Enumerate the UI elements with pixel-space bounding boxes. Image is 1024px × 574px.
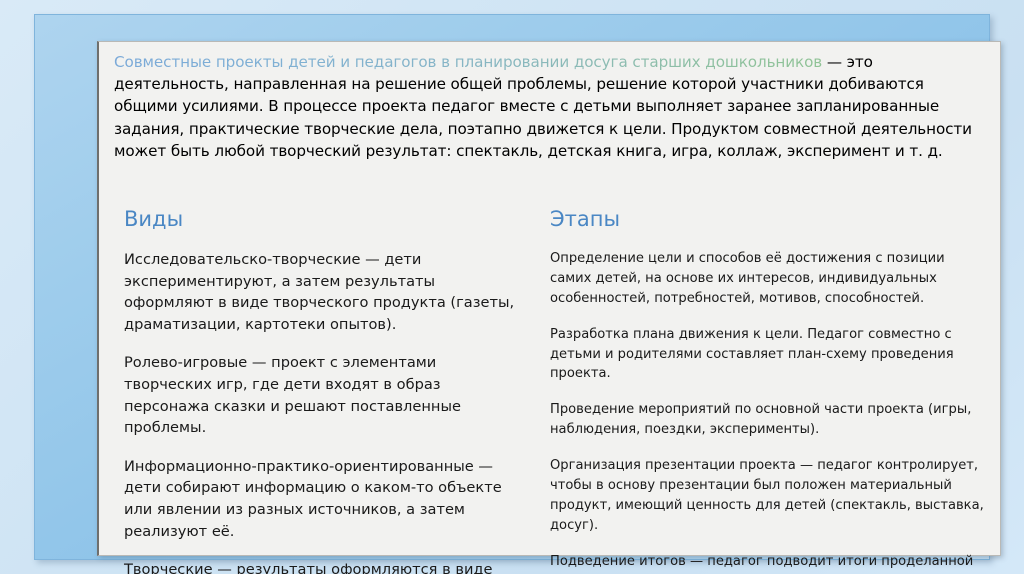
etapy-paragraph-1: Определение цели и способов её достижени…: [550, 249, 984, 309]
column-heading-etapy: Этапы: [550, 208, 984, 231]
vidy-paragraph-1: Исследовательско-творческие — дети экспе…: [124, 249, 528, 335]
slide-frame-panel: Совместные проекты детей и педагогов в п…: [34, 14, 990, 560]
vidy-paragraph-4: Творческие — результаты оформляются в ви…: [124, 559, 528, 574]
intro-highlighted-term: Совместные проекты детей и педагогов в п…: [114, 53, 822, 71]
two-column-body: Виды Исследовательско-творческие — дети …: [114, 208, 986, 574]
slide-canvas: Совместные проекты детей и педагогов в п…: [0, 0, 1024, 574]
intro-paragraph: Совместные проекты детей и педагогов в п…: [114, 51, 986, 162]
vidy-paragraph-2: Ролево-игровые — проект с элементами тво…: [124, 352, 528, 438]
etapy-paragraph-5: Подведение итогов — педагог подводит ито…: [550, 552, 984, 574]
column-vidy: Виды Исследовательско-творческие — дети …: [114, 208, 546, 574]
vidy-paragraph-3: Информационно-практико-ориентированные —…: [124, 456, 528, 542]
column-heading-vidy: Виды: [124, 208, 528, 231]
etapy-paragraph-4: Организация презентации проекта — педаго…: [550, 456, 984, 536]
column-etapy: Этапы Определение цели и способов её дос…: [546, 208, 984, 574]
etapy-paragraph-2: Разработка плана движения к цели. Педаго…: [550, 325, 984, 385]
etapy-paragraph-3: Проведение мероприятий по основной части…: [550, 400, 984, 440]
content-card: Совместные проекты детей и педагогов в п…: [97, 41, 1001, 556]
